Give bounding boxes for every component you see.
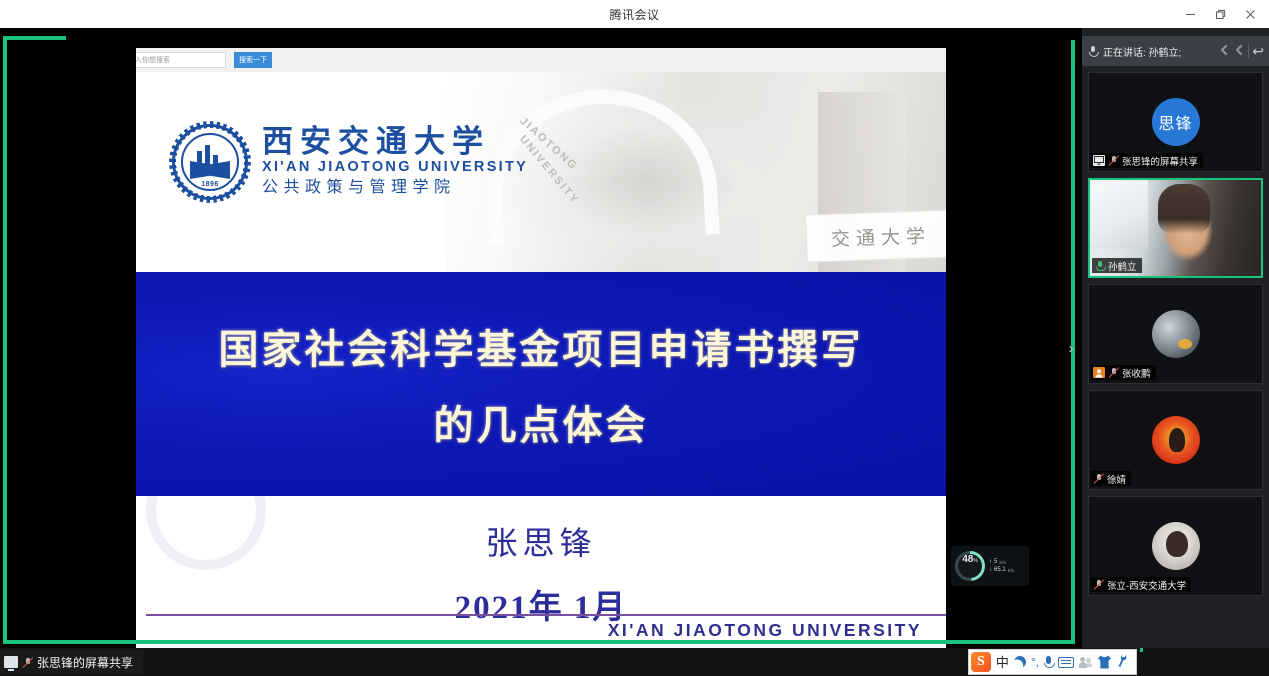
chevron-left-icon-2[interactable] (1233, 44, 1245, 58)
screen-share-label: 张思锋的屏幕共享 (37, 654, 133, 671)
download-arrow-icon: ↓ (989, 567, 992, 573)
slide-footer-text: XI'AN JIAOTONG UNIVERSITY (608, 620, 922, 641)
university-name-cn: 西安交通大学 (262, 126, 528, 159)
voice-input-icon[interactable] (1044, 656, 1053, 669)
participant-rail: 正在讲话: 孙鹤立; ↩ 思锋 (1082, 28, 1269, 648)
school-name-cn: 公共政策与管理学院 (262, 178, 528, 199)
participant-name: 张思锋的屏幕共享 (1122, 154, 1198, 168)
university-name-en: XI'AN JIAOTONG UNIVERSITY (262, 158, 528, 178)
slide-header: JIAOTONG UNIVERSITY 交通大学 1896 (136, 72, 946, 272)
mic-muted-icon (1108, 155, 1119, 166)
avatar (1152, 310, 1200, 358)
degree-icon[interactable]: °, (1031, 656, 1039, 668)
host-badge-icon (1093, 367, 1105, 378)
mic-muted-icon (22, 657, 33, 668)
gate-plaque-text: 交通大学 (805, 209, 946, 262)
mic-muted-icon (1093, 473, 1104, 484)
download-unit: K/s (1008, 568, 1015, 573)
meeting-window: 输入你想搜索 搜索一下 JIAOTONG UNIVERSITY 交通大学 (0, 28, 1269, 676)
network-speed-widget: 48% ↑ 5 K/s ↓ 65.1 K/s (951, 546, 1029, 586)
participant-name-bar: 张思锋的屏幕共享 (1091, 153, 1203, 168)
participant-tile[interactable]: 思锋 张思锋的屏幕共享 (1088, 72, 1263, 172)
participant-name-bar: 张收鹏 (1091, 365, 1156, 380)
participant-name-bar: 徐婧 (1091, 471, 1131, 486)
download-rate: 65.1 (994, 567, 1006, 573)
seal-inner: 1896 (181, 133, 239, 191)
participant-tile[interactable]: 张收鹏 (1088, 284, 1263, 384)
mic-active-icon (1094, 260, 1105, 271)
avatar (1152, 416, 1200, 464)
avatar: 思锋 (1152, 98, 1200, 146)
participant-name: 张立-西安交通大学 (1107, 578, 1186, 592)
seal-year: 1896 (183, 181, 237, 188)
upload-arrow-icon: ↑ (989, 559, 992, 565)
slide-title-line-2: 的几点体会 (434, 393, 649, 451)
participant-tile-active[interactable]: 孙鹤立 (1088, 178, 1263, 278)
window-controls (1175, 0, 1269, 28)
participant-name: 张收鹏 (1122, 366, 1151, 380)
search-input[interactable]: 输入你想搜索 (136, 52, 226, 68)
sogou-logo-icon[interactable]: S (971, 652, 991, 672)
shirt-icon[interactable] (1098, 656, 1111, 669)
network-percent-ring: 48% (955, 551, 985, 581)
participant-tile[interactable]: 徐婧 (1088, 390, 1263, 490)
search-button[interactable]: 搜索一下 (234, 52, 272, 68)
network-percent-unit: % (973, 558, 977, 564)
university-seal-icon: 1896 (172, 124, 248, 200)
shared-screen-stage: 输入你想搜索 搜索一下 JIAOTONG UNIVERSITY 交通大学 (0, 28, 1082, 648)
footer-rule-top (146, 614, 946, 616)
screen-share-icon (1093, 155, 1105, 166)
ime-mode-toggle[interactable]: 中 (996, 656, 1009, 669)
participant-name-bar: 张立-西安交通大学 (1091, 577, 1191, 592)
close-button[interactable] (1235, 0, 1265, 28)
upload-rate: 5 (994, 559, 997, 565)
window-title: 腾讯会议 (609, 6, 659, 23)
university-logo: 1896 西安交通大学 XI'AN JIAOTONG UNIVERSITY 公共… (172, 124, 528, 200)
search-input-placeholder: 输入你想搜索 (136, 55, 170, 65)
share-border-bottom-accent (1140, 648, 1143, 652)
wrench-icon[interactable] (1114, 652, 1132, 671)
microphone-icon (1087, 45, 1099, 57)
speaking-label: 正在讲话: 孙鹤立; (1103, 44, 1214, 59)
participant-tiles: 思锋 张思锋的屏幕共享 孙鹤立 (1082, 68, 1269, 648)
chevron-right-icon[interactable]: › (1062, 326, 1080, 370)
window-title-bar: 腾讯会议 (0, 0, 1269, 28)
avatar (1152, 522, 1200, 570)
network-percent-number: 48 (962, 554, 973, 565)
network-rates: ↑ 5 K/s ↓ 65.1 K/s (989, 559, 1014, 573)
speaking-header: 正在讲话: 孙鹤立; ↩ (1082, 36, 1269, 66)
network-download-row: ↓ 65.1 K/s (989, 567, 1014, 573)
participant-name: 徐婧 (1107, 472, 1126, 486)
rail-header-icons: ↩ (1218, 43, 1264, 60)
keyboard-icon[interactable] (1058, 657, 1074, 668)
minimize-button[interactable] (1175, 0, 1205, 28)
mic-muted-icon (1093, 579, 1104, 590)
participant-name: 孙鹤立 (1108, 259, 1137, 273)
upload-unit: K/s (999, 560, 1006, 565)
slide-title-line-1: 国家社会科学基金项目申请书撰写 (219, 317, 864, 375)
screen-share-border-top-gap (66, 36, 1075, 40)
slide-author: 张思锋 (136, 518, 946, 564)
network-percent-value: 48% (958, 554, 982, 578)
participant-name-bar: 孙鹤立 (1092, 258, 1142, 273)
screen-share-border-right-gap (1075, 36, 1079, 576)
mic-muted-icon (1108, 367, 1119, 378)
return-arrow-icon[interactable]: ↩ (1252, 43, 1264, 60)
screen-share-status[interactable]: 张思锋的屏幕共享 (0, 650, 143, 674)
sogou-ime-toolbar[interactable]: S 中 °, (968, 649, 1137, 675)
browser-search-strip: 输入你想搜索 搜索一下 (136, 48, 946, 72)
shared-slide: 输入你想搜索 搜索一下 JIAOTONG UNIVERSITY 交通大学 (136, 48, 946, 648)
participant-tile[interactable]: 张立-西安交通大学 (1088, 496, 1263, 596)
restore-button[interactable] (1205, 0, 1235, 28)
university-logo-text: 西安交通大学 XI'AN JIAOTONG UNIVERSITY 公共政策与管理… (262, 126, 528, 199)
people-icon[interactable] (1079, 656, 1093, 668)
screen-icon (4, 656, 18, 668)
chevron-left-icon[interactable] (1218, 44, 1230, 58)
bottom-bar: 张思锋的屏幕共享 S 中 °, (0, 648, 1269, 676)
slide-title-block: 国家社会科学基金项目申请书撰写 的几点体会 (136, 272, 946, 496)
slide-footer: 张思锋 2021年 1月 XI'AN JIAOTONG UNIVERSITY (136, 496, 946, 648)
network-upload-row: ↑ 5 K/s (989, 559, 1014, 565)
moon-icon[interactable] (1012, 654, 1028, 670)
header-divider (1248, 44, 1249, 58)
